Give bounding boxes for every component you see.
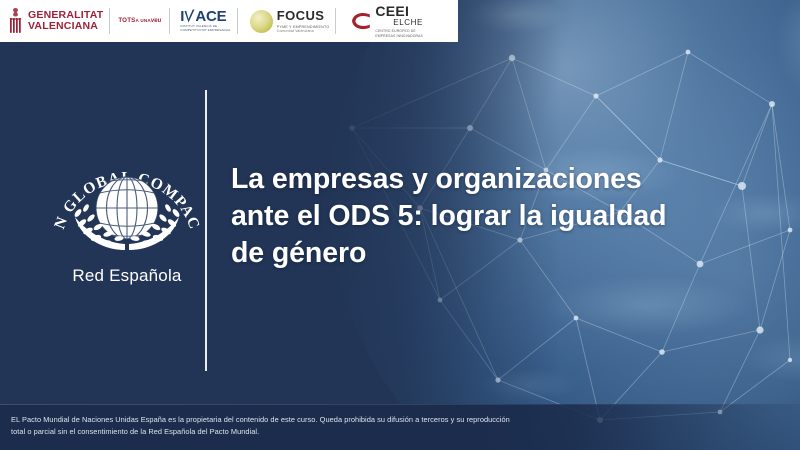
ceei-main-label: CEEI xyxy=(375,3,409,19)
logo-divider-3 xyxy=(237,8,238,34)
footer-separator-line xyxy=(0,404,800,405)
ivace-tagline-2: COMPETITIVITAT EMPRESARIAL xyxy=(180,29,231,33)
logo-focus-pyme: FOCUS PYME Y EMPRENDIMIENTO Comunitat Va… xyxy=(244,0,330,42)
ceei-tagline: CENTRO EUROPEO DE EMPRESAS INNOVADORAS xyxy=(375,29,423,38)
footer-disclaimer: EL Pacto Mundial de Naciones Unidas Espa… xyxy=(11,414,511,438)
sponsor-logo-bar: GENERALITAT VALENCIANA TOTS A UNA veu I … xyxy=(0,0,458,42)
focus-main-label: FOCUS xyxy=(277,8,325,23)
logo-generalitat-valenciana: GENERALITAT VALENCIANA xyxy=(0,0,103,42)
ceei-city-label: ELCHE xyxy=(375,19,423,27)
un-global-compact-caption: Red Española xyxy=(47,266,207,286)
ivace-v-check-icon xyxy=(184,9,195,24)
ceei-wordmark: CEEI ELCHE CENTRO EUROPEO DE EMPRESAS IN… xyxy=(375,4,423,38)
tots-line-2: A UNA xyxy=(136,19,151,24)
un-global-compact-emblem-icon: UN GLOBAL COMPACT xyxy=(47,146,207,274)
generalitat-wordmark: GENERALITAT VALENCIANA xyxy=(28,10,103,31)
tots-line-1: TOTS xyxy=(118,18,135,25)
presentation-slide: GENERALITAT VALENCIANA TOTS A UNA veu I … xyxy=(0,0,800,450)
logo-tots-a-una-veu: TOTS A UNA veu xyxy=(116,0,163,42)
ceei-tagline-1: CENTRO EUROPEO DE xyxy=(375,29,423,33)
ceei-tagline-2: EMPRESAS INNOVADORAS xyxy=(375,34,423,38)
logo-divider-2 xyxy=(169,8,170,34)
logo-divider-4 xyxy=(335,8,336,34)
logo-ivace: I ACE INSTITUT VALENCIÀ DE COMPETITIVITA… xyxy=(176,0,231,42)
ceei-arc-icon xyxy=(350,10,372,32)
generalitat-line-2: VALENCIANA xyxy=(28,21,103,32)
ivace-tagline: INSTITUT VALENCIÀ DE COMPETITIVITAT EMPR… xyxy=(180,25,231,33)
generalitat-crest-icon xyxy=(8,7,23,35)
tots-line-3: veu xyxy=(151,18,161,24)
ivace-letters-ace: ACE xyxy=(195,9,226,24)
slide-title: La empresas y organizaciones ante el ODS… xyxy=(231,161,671,272)
un-global-compact-logo: UN GLOBAL COMPACT xyxy=(47,146,207,306)
ivace-wordmark: I ACE xyxy=(180,9,231,24)
logo-divider-1 xyxy=(109,8,110,34)
focus-tagline-2: Comunitat Valenciana xyxy=(277,30,330,34)
focus-sphere-icon xyxy=(250,10,273,33)
vertical-divider xyxy=(205,90,207,371)
focus-wordmark: FOCUS PYME Y EMPRENDIMIENTO Comunitat Va… xyxy=(277,8,330,33)
logo-ceei-elche: CEEI ELCHE CENTRO EUROPEO DE EMPRESAS IN… xyxy=(342,0,423,42)
